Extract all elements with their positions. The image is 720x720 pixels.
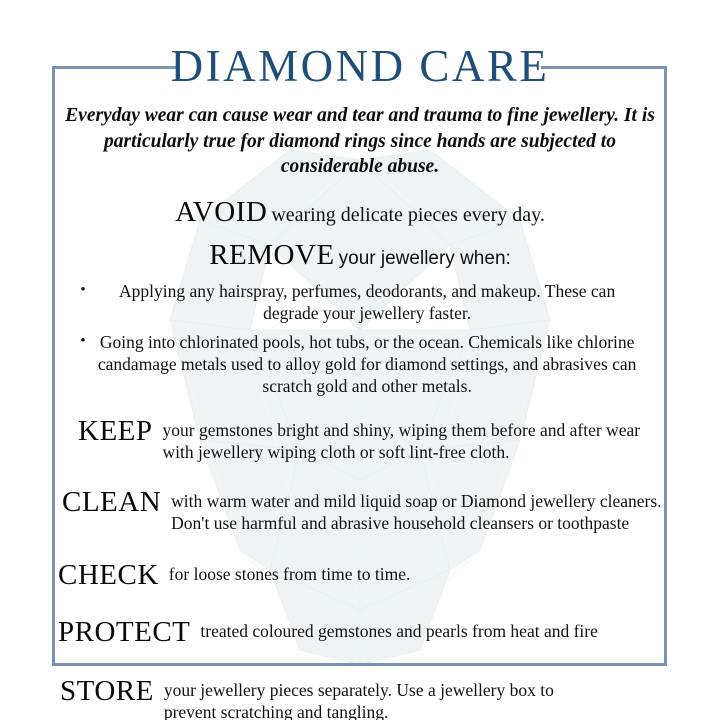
avoid-text: wearing delicate pieces every day. xyxy=(271,204,545,226)
section-check: CHECK for loose stones from time to time… xyxy=(58,559,662,592)
section-body: your gemstones bright and shiny, wiping … xyxy=(163,420,663,464)
section-keep: KEEP your gemstones bright and shiny, wi… xyxy=(58,415,662,468)
poster-content: DIAMOND CARE Everyday wear can cause wea… xyxy=(0,0,720,720)
remove-bullet-list: • Applying any hairspray, perfumes, deod… xyxy=(58,280,662,397)
list-item: • Going into chlorinated pools, hot tubs… xyxy=(58,331,662,397)
bullet-dot-icon: • xyxy=(80,331,85,351)
section-body: with warm water and mild liquid soap or … xyxy=(171,491,662,535)
page-title: DIAMOND CARE xyxy=(58,0,662,89)
intro-paragraph: Everyday wear can cause wear and tear an… xyxy=(58,103,662,180)
section-keyword: CHECK xyxy=(58,559,159,592)
list-item-text: Applying any hairspray, perfumes, deodor… xyxy=(95,280,640,324)
bullet-dot-icon: • xyxy=(80,280,85,300)
avoid-row: AVOID wearing delicate pieces every day. xyxy=(58,196,662,229)
section-body: for loose stones from time to time. xyxy=(169,564,662,586)
section-keyword: STORE xyxy=(60,675,154,708)
list-item-text: Going into chlorinated pools, hot tubs, … xyxy=(95,331,640,397)
section-body: your jewellery pieces separately. Use a … xyxy=(164,680,584,720)
section-store: STORE your jewellery pieces separately. … xyxy=(58,675,662,720)
avoid-keyword: AVOID xyxy=(175,196,267,228)
remove-row: REMOVE your jewellery when: xyxy=(58,239,662,272)
remove-keyword: REMOVE xyxy=(209,239,334,271)
section-body: treated coloured gemstones and pearls fr… xyxy=(200,621,620,643)
section-keyword: CLEAN xyxy=(62,486,161,519)
section-clean: CLEAN with warm water and mild liquid so… xyxy=(58,486,662,539)
diamond-care-poster: DIAMOND CARE Everyday wear can cause wea… xyxy=(0,0,720,720)
section-protect: PROTECT treated coloured gemstones and p… xyxy=(58,616,662,649)
section-keyword: PROTECT xyxy=(58,616,190,649)
remove-text: your jewellery when: xyxy=(339,248,511,269)
list-item: • Applying any hairspray, perfumes, deod… xyxy=(58,280,662,324)
section-keyword: KEEP xyxy=(78,415,153,448)
